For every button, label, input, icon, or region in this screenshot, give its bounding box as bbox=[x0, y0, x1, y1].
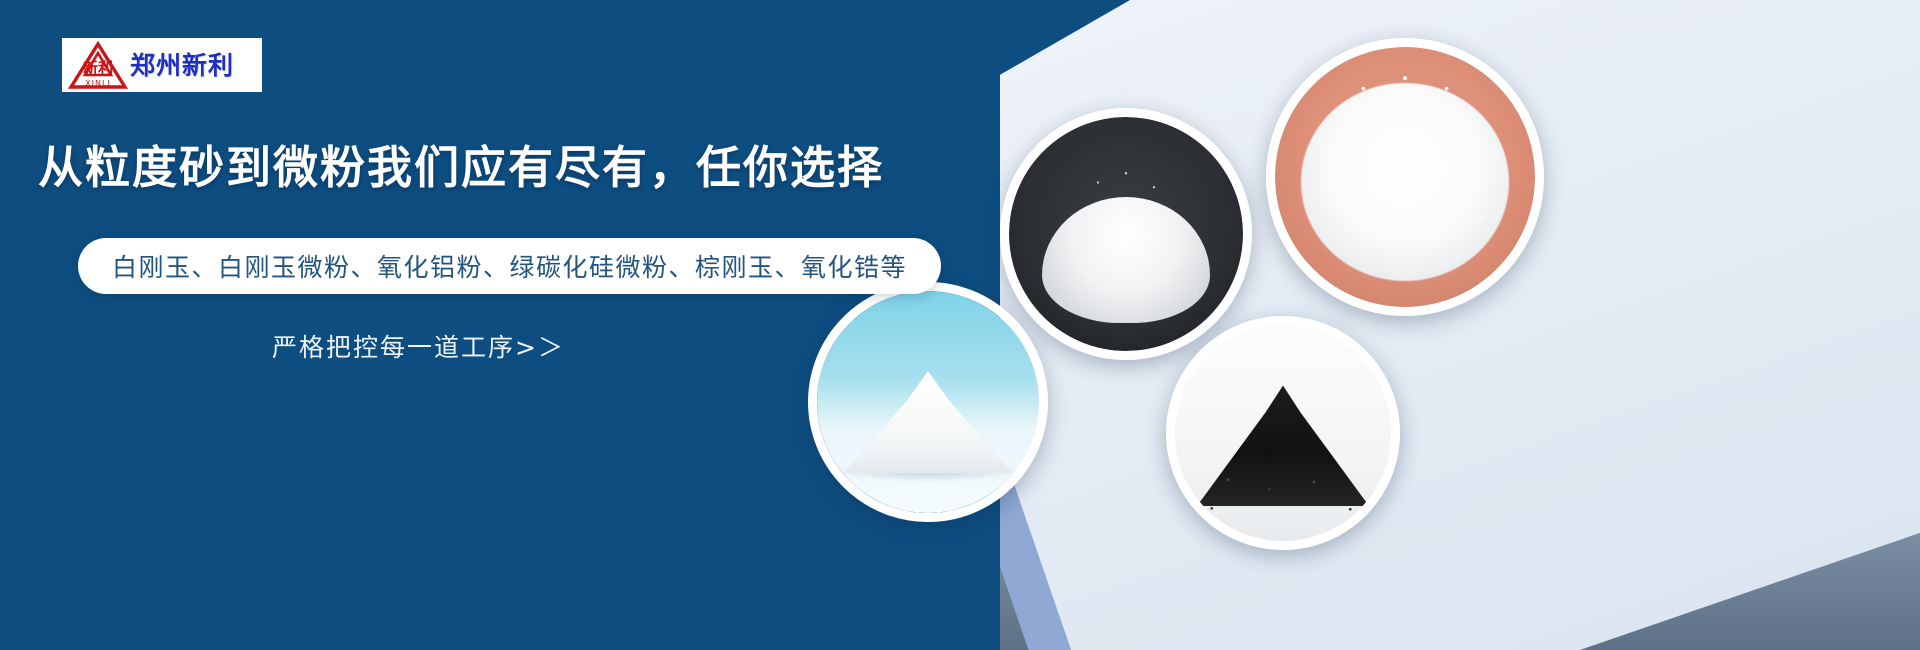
product-circle-black-grit-cone bbox=[1166, 316, 1400, 550]
process-cta-link[interactable]: 严格把控每一道工序>＞ bbox=[272, 328, 565, 364]
headline-text: 从粒度砂到微粉我们应有尽有，任你选择 bbox=[38, 143, 884, 193]
product-circle-white-powder-on-terracotta-dish bbox=[1266, 38, 1544, 316]
scattered-powder bbox=[1275, 47, 1535, 307]
scattered-grains bbox=[1009, 117, 1243, 351]
svg-text:XINLI: XINLI bbox=[85, 79, 111, 88]
hero-banner: 新利 XINLI 郑州新利 从粒度砂到微粉我们应有尽有，任你选择 白刚玉、白刚玉… bbox=[0, 0, 1920, 650]
xinli-triangle-logo-icon: 新利 XINLI bbox=[68, 40, 128, 90]
product-list-pill[interactable]: 白刚玉、白刚玉微粉、氧化铝粉、绿碳化硅微粉、棕刚玉、氧化锆等 bbox=[78, 238, 941, 294]
product-list-text: 白刚玉、白刚玉微粉、氧化铝粉、绿碳化硅微粉、棕刚玉、氧化锆等 bbox=[112, 248, 907, 284]
product-circle-white-grit-on-dark-tray bbox=[1000, 108, 1252, 360]
product-circle-white-powder-cone-on-cyan bbox=[808, 282, 1048, 522]
company-name-text: 郑州新利 bbox=[130, 53, 234, 78]
svg-text:新利: 新利 bbox=[83, 59, 113, 77]
company-logo[interactable]: 新利 XINLI 郑州新利 bbox=[62, 38, 262, 92]
